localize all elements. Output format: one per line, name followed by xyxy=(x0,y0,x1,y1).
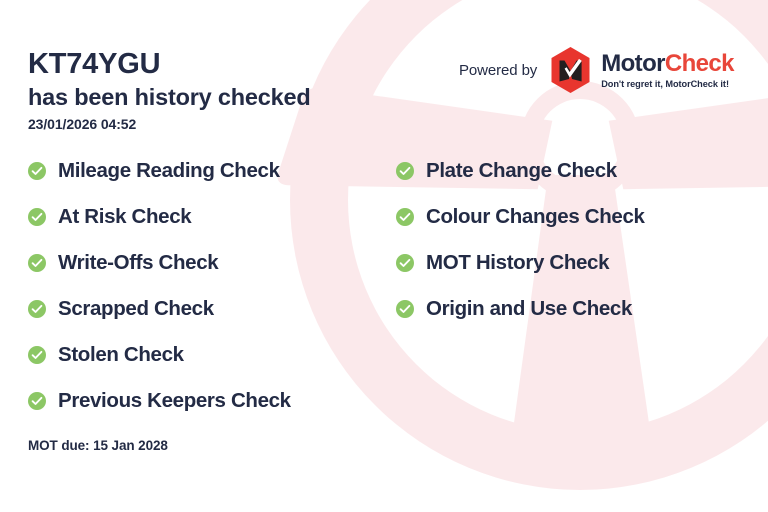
green-check-circle-icon xyxy=(396,162,414,180)
check-row[interactable]: Colour Changes Check xyxy=(396,202,645,231)
vehicle-registration: KT74YGU xyxy=(28,50,160,80)
check-label: Mileage Reading Check xyxy=(58,159,280,183)
report-timestamp: 23/01/2026 04:52 xyxy=(28,116,136,132)
check-label: Origin and Use Check xyxy=(426,297,632,321)
wordmark-check: Check xyxy=(665,50,734,77)
green-check-circle-icon xyxy=(396,300,414,318)
check-row[interactable]: Previous Keepers Check xyxy=(28,386,291,415)
check-row[interactable]: Write-Offs Check xyxy=(28,248,291,277)
check-row[interactable]: Plate Change Check xyxy=(396,156,645,185)
powered-by-block[interactable]: Powered by MotorCheck Don't regret it, M… xyxy=(459,45,734,95)
check-label: Previous Keepers Check xyxy=(58,389,291,413)
status-line: has been history checked xyxy=(28,85,311,110)
check-label: Scrapped Check xyxy=(58,297,214,321)
report-card: KT74YGU has been history checked 23/01/2… xyxy=(0,0,768,512)
green-check-circle-icon xyxy=(396,254,414,272)
mot-due-label: MOT due: 15 Jan 2028 xyxy=(28,438,168,453)
checks-column-right: Plate Change CheckColour Changes CheckMO… xyxy=(396,156,645,340)
green-check-circle-icon xyxy=(28,208,46,226)
checks-column-left: Mileage Reading CheckAt Risk CheckWrite-… xyxy=(28,156,291,432)
green-check-circle-icon xyxy=(28,162,46,180)
motorcheck-wordmark: MotorCheck Don't regret it, MotorCheck i… xyxy=(601,52,734,89)
check-row[interactable]: Origin and Use Check xyxy=(396,294,645,323)
green-check-circle-icon xyxy=(28,392,46,410)
green-check-circle-icon xyxy=(396,208,414,226)
check-label: Plate Change Check xyxy=(426,159,617,183)
check-row[interactable]: MOT History Check xyxy=(396,248,645,277)
check-label: At Risk Check xyxy=(58,205,191,229)
brand-tagline: Don't regret it, MotorCheck it! xyxy=(601,79,734,89)
check-label: MOT History Check xyxy=(426,251,609,275)
green-check-circle-icon xyxy=(28,346,46,364)
check-label: Colour Changes Check xyxy=(426,205,645,229)
green-check-circle-icon xyxy=(28,254,46,272)
wordmark-motor: Motor xyxy=(601,50,665,77)
check-label: Stolen Check xyxy=(58,343,184,367)
check-row[interactable]: Stolen Check xyxy=(28,340,291,369)
check-row[interactable]: Mileage Reading Check xyxy=(28,156,291,185)
green-check-circle-icon xyxy=(28,300,46,318)
motorcheck-hexagon-logo-icon xyxy=(548,46,593,94)
check-label: Write-Offs Check xyxy=(58,251,218,275)
powered-by-label: Powered by xyxy=(459,62,537,79)
check-row[interactable]: Scrapped Check xyxy=(28,294,291,323)
check-row[interactable]: At Risk Check xyxy=(28,202,291,231)
